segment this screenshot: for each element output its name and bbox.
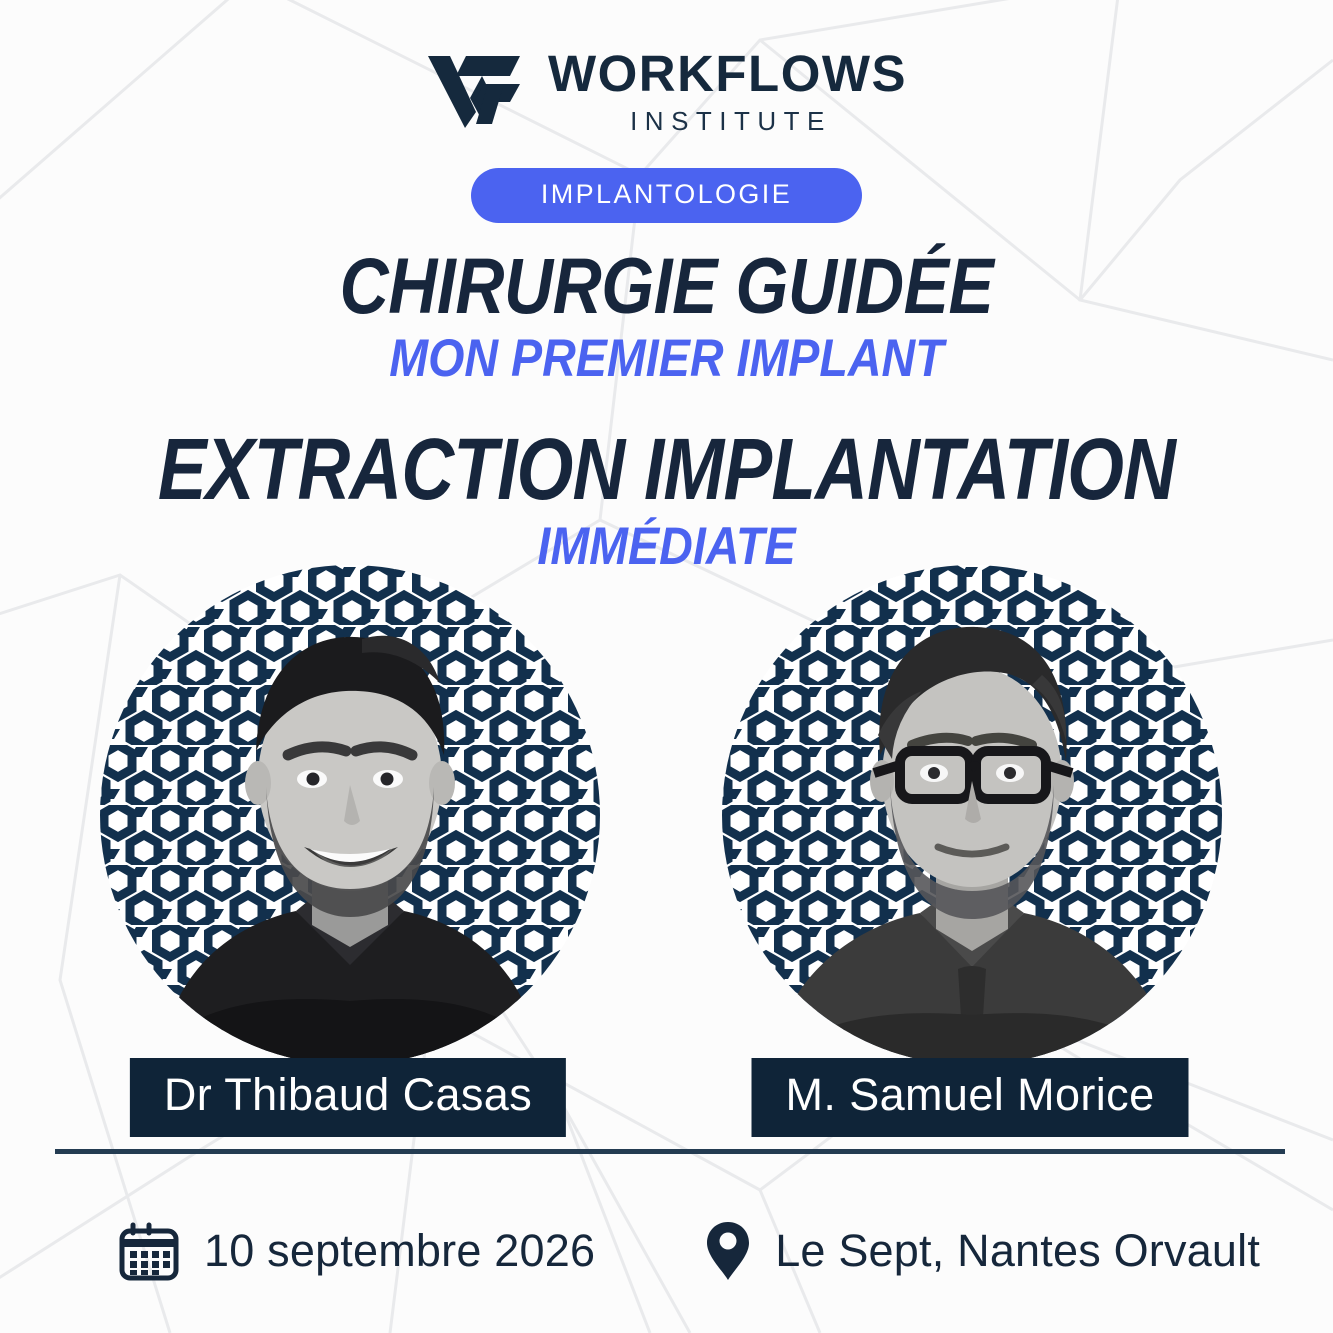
brand-wordmark: WORKFLOWS xyxy=(548,48,907,99)
map-pin-icon xyxy=(705,1220,751,1282)
speaker-photo-2 xyxy=(722,565,1222,1065)
speakers-row: Dr Thibaud Casas M. Samuel Morice xyxy=(0,565,1333,1145)
brand-subtitle: INSTITUTE xyxy=(623,108,832,134)
speaker-card-2: M. Samuel Morice xyxy=(690,565,1250,1145)
calendar-icon xyxy=(118,1220,180,1282)
speaker-card-1: Dr Thibaud Casas xyxy=(68,565,628,1145)
title-group: CHIRURGIE GUIDÉE MON PREMIER IMPLANT EXT… xyxy=(0,246,1333,577)
event-location-group: Le Sept, Nantes Orvault xyxy=(705,1220,1260,1282)
speaker-avatar-1 xyxy=(100,565,600,1065)
event-date-group: 10 septembre 2026 xyxy=(118,1220,595,1282)
speaker-nameplate-1: Dr Thibaud Casas xyxy=(130,1058,566,1137)
event-location-text: Le Sept, Nantes Orvault xyxy=(775,1225,1260,1277)
brand-logo: WORKFLOWS INSTITUTE xyxy=(0,48,1333,134)
footer-info: 10 septembre 2026 Le Sept, Nantes Orvaul… xyxy=(0,1196,1333,1306)
title-primary-2: EXTRACTION IMPLANTATION xyxy=(107,426,1227,513)
title-primary-1: CHIRURGIE GUIDÉE xyxy=(93,246,1239,325)
event-date-text: 10 septembre 2026 xyxy=(204,1225,595,1277)
speaker-photo-1 xyxy=(100,565,600,1065)
speaker-nameplate-2: M. Samuel Morice xyxy=(752,1058,1189,1137)
footer-divider xyxy=(55,1149,1285,1154)
category-badge[interactable]: IMPLANTOLOGIE xyxy=(471,168,862,223)
title-secondary-1: MON PREMIER IMPLANT xyxy=(80,329,1253,388)
speaker-avatar-2 xyxy=(722,565,1222,1065)
vf-monogram-icon xyxy=(426,54,522,128)
poster-canvas: WORKFLOWS INSTITUTE IMPLANTOLOGIE CHIRUR… xyxy=(0,0,1333,1333)
category-badge-wrap: IMPLANTOLOGIE xyxy=(0,168,1333,223)
